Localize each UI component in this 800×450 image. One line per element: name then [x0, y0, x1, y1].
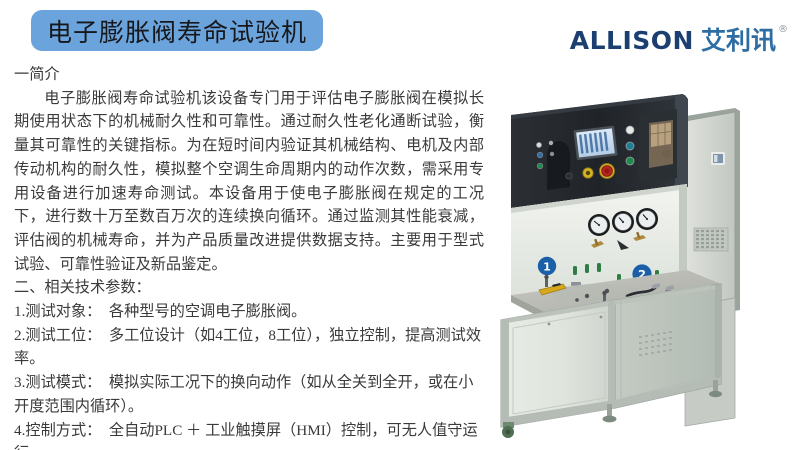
slide-page: 电子膨胀阀寿命试验机 ALLISON 艾利讯 ® 一简介 电子膨胀阀寿命试验机该…: [0, 0, 800, 450]
machine-photo: 1 2: [489, 88, 795, 440]
indicator-lamps-right[interactable]: [626, 126, 634, 165]
pressure-gauge: [612, 211, 634, 233]
parameter-item: 3.测试模式： 模拟实际工况下的换向动作（如从全关到全开，或在小开度范围内循环）…: [14, 371, 484, 418]
brand-logo-english: ALLISON: [570, 28, 694, 53]
brand-logo: ALLISON 艾利讯 ®: [570, 28, 788, 53]
parameter-item: 2.测试工位： 多工位设计（如4工位，8工位），独立控制，提高测试效率。: [14, 324, 484, 371]
intro-paragraph: 电子膨胀阀寿命试验机该设备专门用于评估电子膨胀阀在模拟长期使用状态下的机械耐久性…: [14, 87, 484, 277]
door-latch: [548, 323, 551, 326]
pressure-gauge: [636, 208, 658, 230]
panel-knob[interactable]: [566, 173, 572, 179]
section-heading-parameters: 二、相关技术参数：: [14, 276, 484, 300]
ventilation-grille: [694, 228, 728, 251]
station-badge-1-label: 1: [543, 261, 551, 274]
page-title: 电子膨胀阀寿命试验机: [47, 13, 307, 49]
parameter-item: 4.控制方式： 全自动PLC ＋ 工业触摸屏（HMI）控制，可无人值守运行。: [14, 419, 484, 450]
page-title-badge: 电子膨胀阀寿命试验机: [31, 10, 323, 51]
pressure-gauge: [588, 214, 610, 236]
station-badge-1: 1: [538, 257, 556, 275]
hmi-touchscreen[interactable]: [573, 126, 617, 161]
parameter-item: 1.测试对象： 各种型号的空调电子膨胀阀。: [14, 300, 484, 324]
content-body: 一简介 电子膨胀阀寿命试验机该设备专门用于评估电子膨胀阀在模拟长期使用状态下的机…: [14, 63, 484, 450]
section-heading-intro: 一简介: [14, 63, 484, 87]
caster: [502, 422, 514, 438]
brand-logo-chinese: 艾利讯: [701, 28, 776, 53]
door-latch: [600, 316, 603, 319]
registered-trademark-icon: ®: [778, 24, 788, 35]
panel-cutout: [616, 168, 628, 183]
